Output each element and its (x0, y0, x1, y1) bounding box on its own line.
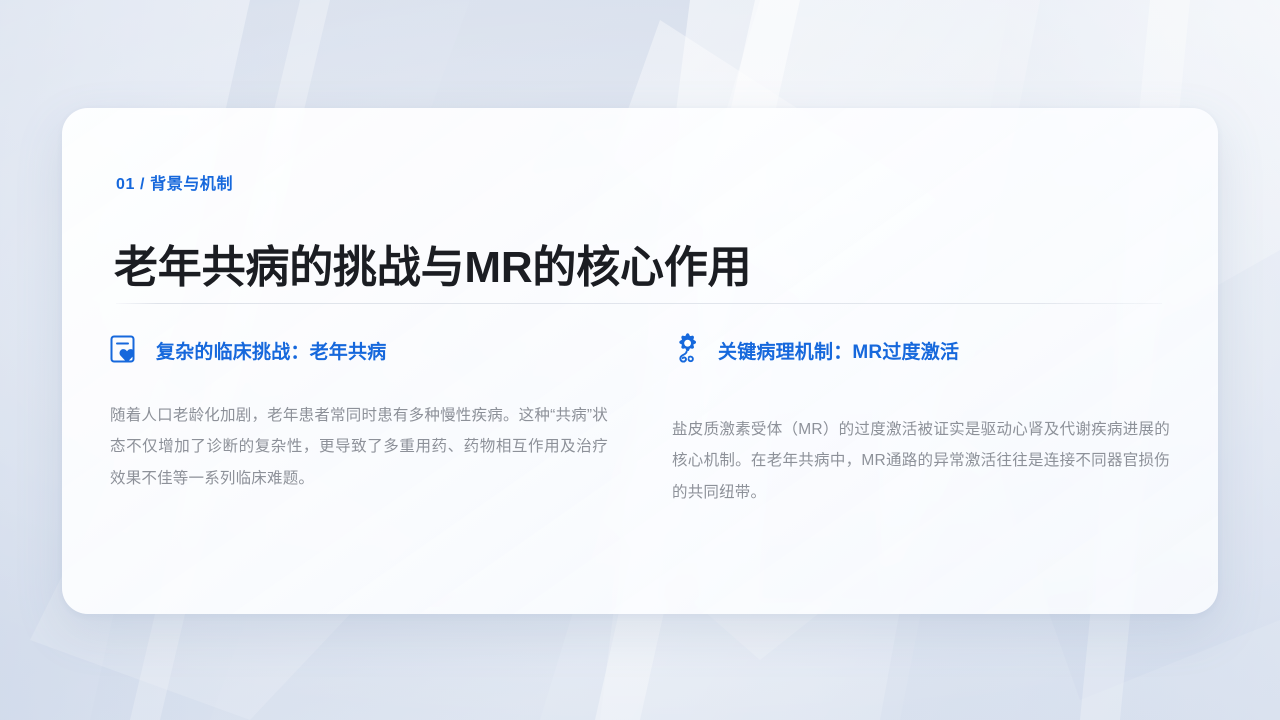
slide-root: 01 / 背景与机制 老年共病的挑战与MR的核心作用 复 (0, 0, 1280, 720)
column-title: 关键病理机制：MR过度激活 (718, 337, 959, 364)
column-title: 复杂的临床挑战：老年共病 (156, 337, 386, 364)
title-divider (116, 303, 1162, 304)
column-header: 复杂的临床挑战：老年共病 (110, 330, 608, 370)
column-header: 关键病理机制：MR过度激活 (672, 330, 1170, 370)
receptor-gear-icon (672, 333, 704, 367)
content-card: 01 / 背景与机制 老年共病的挑战与MR的核心作用 复 (62, 108, 1218, 614)
document-heart-icon (110, 333, 142, 367)
column-body-text: 随着人口老龄化加剧，老年患者常同时患有多种慢性疾病。这种“共病”状态不仅增加了诊… (110, 400, 608, 494)
column-pathology-mechanism: 关键病理机制：MR过度激活 盐皮质激素受体（MR）的过度激活被证实是驱动心肾及代… (672, 330, 1170, 524)
columns-container: 复杂的临床挑战：老年共病 随着人口老龄化加剧，老年患者常同时患有多种慢性疾病。这… (110, 330, 1170, 524)
column-body-text: 盐皮质激素受体（MR）的过度激活被证实是驱动心肾及代谢疾病进展的核心机制。在老年… (672, 414, 1170, 508)
page-title: 老年共病的挑战与MR的核心作用 (114, 242, 751, 294)
section-eyebrow: 01 / 背景与机制 (116, 170, 233, 194)
column-clinical-challenge: 复杂的临床挑战：老年共病 随着人口老龄化加剧，老年患者常同时患有多种慢性疾病。这… (110, 330, 608, 524)
